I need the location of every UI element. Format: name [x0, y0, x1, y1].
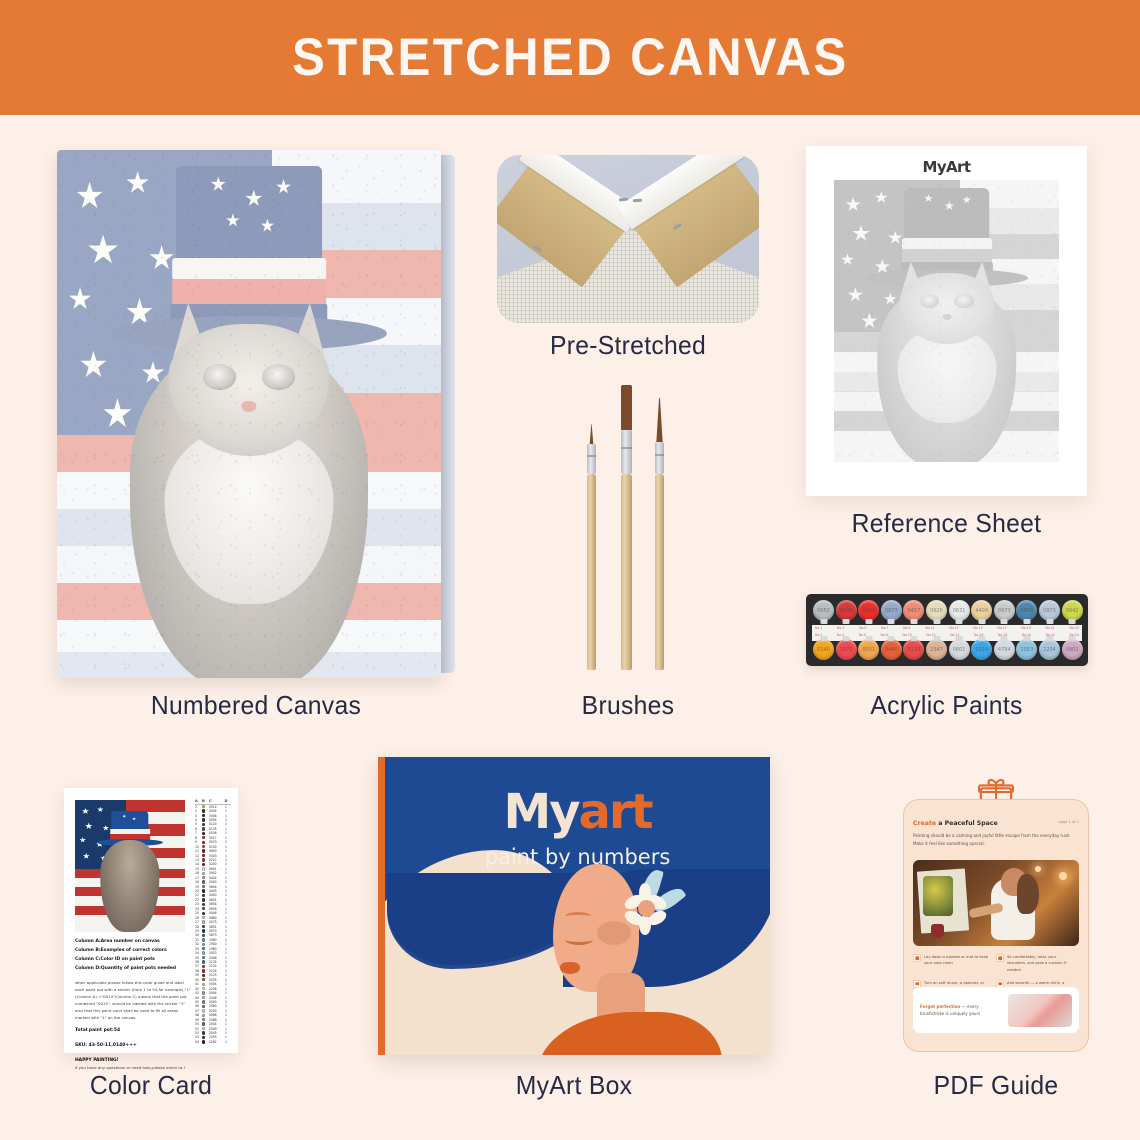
tip-item: Sit comfortably, relax your shoulders, a…	[996, 954, 1079, 973]
color-swatch	[202, 814, 205, 817]
brush-liner	[587, 424, 596, 670]
canvas-side-edge	[440, 155, 455, 673]
color-swatch	[202, 885, 205, 888]
caption-pdf-guide: PDF Guide	[884, 1070, 1108, 1101]
color-swatch	[202, 991, 205, 994]
reference-paper: MyArt	[806, 146, 1087, 496]
color-swatch	[202, 849, 205, 852]
color-swatch	[202, 987, 205, 990]
color-swatch	[202, 863, 205, 866]
caption-pre-stretched: Pre-Stretched	[504, 330, 753, 361]
color-swatch	[202, 876, 205, 879]
paint-pot: 1070	[836, 639, 857, 660]
brushes-image	[573, 385, 683, 670]
color-swatch	[202, 827, 205, 830]
myart-logo-text: MyArt	[806, 158, 1087, 176]
box-front-face: Myart paint by numbers	[378, 757, 770, 1055]
color-swatch	[202, 1031, 205, 1034]
paint-pot: 0052	[858, 600, 879, 621]
color-swatch	[202, 854, 205, 857]
color-swatch	[202, 956, 205, 959]
color-swatch	[202, 934, 205, 937]
color-swatch	[202, 809, 205, 812]
pdf-page-number: page 1 of 1	[1059, 820, 1079, 824]
color-swatch	[202, 818, 205, 821]
check-icon	[996, 954, 1004, 962]
color-swatch	[202, 916, 205, 919]
pdf-title-rest: a Peaceful Space	[936, 820, 998, 827]
paint-pot: 0601	[949, 639, 970, 660]
eye-closed	[565, 934, 593, 945]
reference-sheet-image: MyArt	[806, 146, 1087, 496]
color-swatch	[202, 969, 205, 972]
color-swatch	[202, 907, 205, 910]
tip-text: Lay down a blanket or mat to keep your a…	[924, 954, 992, 973]
paint-pot: 0052	[813, 600, 834, 621]
myart-box-image: Myart paint by numbers	[378, 757, 770, 1055]
pdf-title-accent: Create	[913, 820, 936, 827]
cheek-shade	[597, 921, 631, 945]
box-logo: Myart	[385, 784, 770, 840]
pdf-guide-title: Create a Peaceful Space	[913, 820, 1079, 827]
paint-pot: 2347	[926, 639, 947, 660]
color-swatch	[202, 943, 205, 946]
paint-pot: 0942	[1062, 600, 1083, 621]
pdf-guide-description: Painting should be a calming and joyful …	[913, 832, 1079, 847]
color-swatch	[202, 965, 205, 968]
caption-acrylic-paints: Acrylic Paints	[813, 690, 1080, 721]
color-swatch	[202, 823, 205, 826]
check-icon	[913, 954, 921, 962]
paint-pot: 0631	[949, 600, 970, 621]
caption-myart-box: MyArt Box	[388, 1070, 760, 1101]
paint-pot: 0034	[836, 600, 857, 621]
acrylic-paints-image: No.1No.3No.5No.7No.9No.11No.13No.15No.17…	[806, 594, 1088, 666]
color-swatch	[202, 1036, 205, 1039]
logo-art-text: art	[579, 784, 652, 840]
color-swatch	[202, 1005, 205, 1008]
color-swatch	[202, 925, 205, 928]
color-swatch	[202, 841, 205, 844]
paint-pot: 2204	[1039, 639, 1060, 660]
pdf-guide-photo	[913, 860, 1079, 946]
paint-pot: 2053	[1016, 639, 1037, 660]
color-swatch	[202, 894, 205, 897]
paint-pot: 0973	[994, 600, 1015, 621]
eyebrow	[565, 912, 591, 921]
infographic-page: STRETCHED CANVAS	[0, 0, 1140, 1140]
color-swatch	[202, 947, 205, 950]
color-swatch	[202, 1014, 205, 1017]
color-swatch	[202, 983, 205, 986]
footer-thumbnail	[1008, 994, 1072, 1027]
color-swatch	[202, 867, 205, 870]
header-a: A	[195, 799, 202, 803]
paint-pot: 0440	[881, 639, 902, 660]
sku-text: SKU: 43-50-11,0140+++	[75, 1042, 193, 1051]
color-swatch	[202, 836, 205, 839]
color-swatch	[202, 1000, 205, 1003]
paint-pot: 0124	[971, 639, 992, 660]
column-a-text: Column A:Area number on canvas	[75, 938, 193, 947]
paint-tray-label: No.1No.3No.5No.7No.9No.11No.13No.15No.17…	[812, 625, 1082, 641]
header-b: B	[202, 799, 209, 803]
header-c: C	[209, 799, 223, 803]
color-swatch	[202, 903, 205, 906]
flower-center	[638, 900, 655, 917]
caption-reference-sheet: Reference Sheet	[813, 508, 1080, 539]
color-card-paper: Column A:Area number on canvas Column B:…	[64, 788, 238, 1053]
color-swatch	[202, 880, 205, 883]
reference-artwork	[834, 180, 1059, 462]
lips	[560, 962, 580, 974]
total-paint-pots: Total paint pot:54	[75, 1027, 193, 1036]
numbered-canvas-image	[57, 150, 455, 678]
page-title: STRETCHED CANVAS	[292, 27, 849, 88]
color-swatch	[202, 805, 205, 808]
color-swatch	[202, 1009, 205, 1012]
color-swatch	[202, 1018, 205, 1021]
brush-flat	[621, 385, 632, 670]
color-swatch	[202, 938, 205, 941]
column-b-text: Column B:Examples of correct colors	[75, 947, 193, 956]
color-swatch	[202, 1040, 205, 1043]
color-swatch	[202, 1022, 205, 1025]
color-swatch	[202, 898, 205, 901]
tip-text: Sit comfortably, relax your shoulders, a…	[1007, 954, 1075, 973]
paint-tray: No.1No.3No.5No.7No.9No.11No.13No.15No.17…	[806, 594, 1088, 666]
caption-color-card: Color Card	[46, 1070, 257, 1101]
staple	[633, 199, 642, 203]
color-legend-table: A B C D 10014120044130046140054150120160…	[195, 799, 231, 1044]
color-card-artwork	[75, 800, 185, 932]
color-swatch	[202, 929, 205, 932]
paint-pot: 0873	[1039, 600, 1060, 621]
paint-pot: 0873	[881, 600, 902, 621]
paint-pot: 0135	[903, 639, 924, 660]
color-swatch	[202, 951, 205, 954]
brush-round	[655, 398, 664, 670]
pdf-guide-footer: Forget perfection — every brushstroke is…	[913, 987, 1079, 1033]
instructions-body: when applicable,please follow this color…	[75, 979, 193, 1022]
color-swatch	[202, 845, 205, 848]
color-card-image: Column A:Area number on canvas Column B:…	[64, 788, 238, 1053]
footer-accent: Forget perfection	[920, 1004, 960, 1009]
color-swatch	[202, 960, 205, 963]
tip-item: Lay down a blanket or mat to keep your a…	[913, 954, 996, 973]
color-swatch	[202, 912, 205, 915]
color-swatch	[202, 889, 205, 892]
frame-corner-photo	[497, 155, 759, 323]
header-d: D	[223, 799, 229, 803]
column-d-text: Column D:Quantity of paint pots needed	[75, 965, 193, 974]
color-swatch	[202, 974, 205, 977]
paint-pot: 0902	[1062, 639, 1083, 660]
color-card-instructions: Column A:Area number on canvas Column B:…	[75, 938, 193, 1070]
paint-pot: 0140	[813, 639, 834, 660]
paint-pot: 4794	[994, 639, 1015, 660]
box-subtitle: paint by numbers	[385, 845, 770, 869]
logo-my-text: My	[503, 784, 578, 840]
legend-row: 5402621	[195, 1040, 231, 1044]
paint-pot: 0457	[903, 600, 924, 621]
color-swatch	[202, 920, 205, 923]
color-swatch	[202, 858, 205, 861]
color-swatch	[202, 872, 205, 875]
color-swatch	[202, 996, 205, 999]
paint-pot: 0970	[1016, 600, 1037, 621]
paint-pot: 0626	[926, 600, 947, 621]
color-swatch	[202, 1027, 205, 1030]
color-swatch	[202, 978, 205, 981]
canvas-front-face	[57, 150, 441, 678]
paint-by-number-outlines	[57, 150, 441, 678]
caption-numbered-canvas: Numbered Canvas	[67, 690, 445, 721]
color-swatch	[202, 832, 205, 835]
page-header: STRETCHED CANVAS	[0, 0, 1140, 115]
column-c-text: Column C:Color ID on paint pots	[75, 956, 193, 965]
pre-stretched-image	[497, 155, 759, 323]
paint-pot: 0031	[858, 639, 879, 660]
happy-painting-text: HAPPY PAINTING!	[75, 1057, 193, 1065]
caption-brushes: Brushes	[504, 690, 753, 721]
paint-pot: 4409	[971, 600, 992, 621]
pdf-guide-image: page 1 of 1 Create a Peaceful Space Pain…	[903, 777, 1089, 1052]
pdf-guide-card: page 1 of 1 Create a Peaceful Space Pain…	[903, 799, 1089, 1052]
